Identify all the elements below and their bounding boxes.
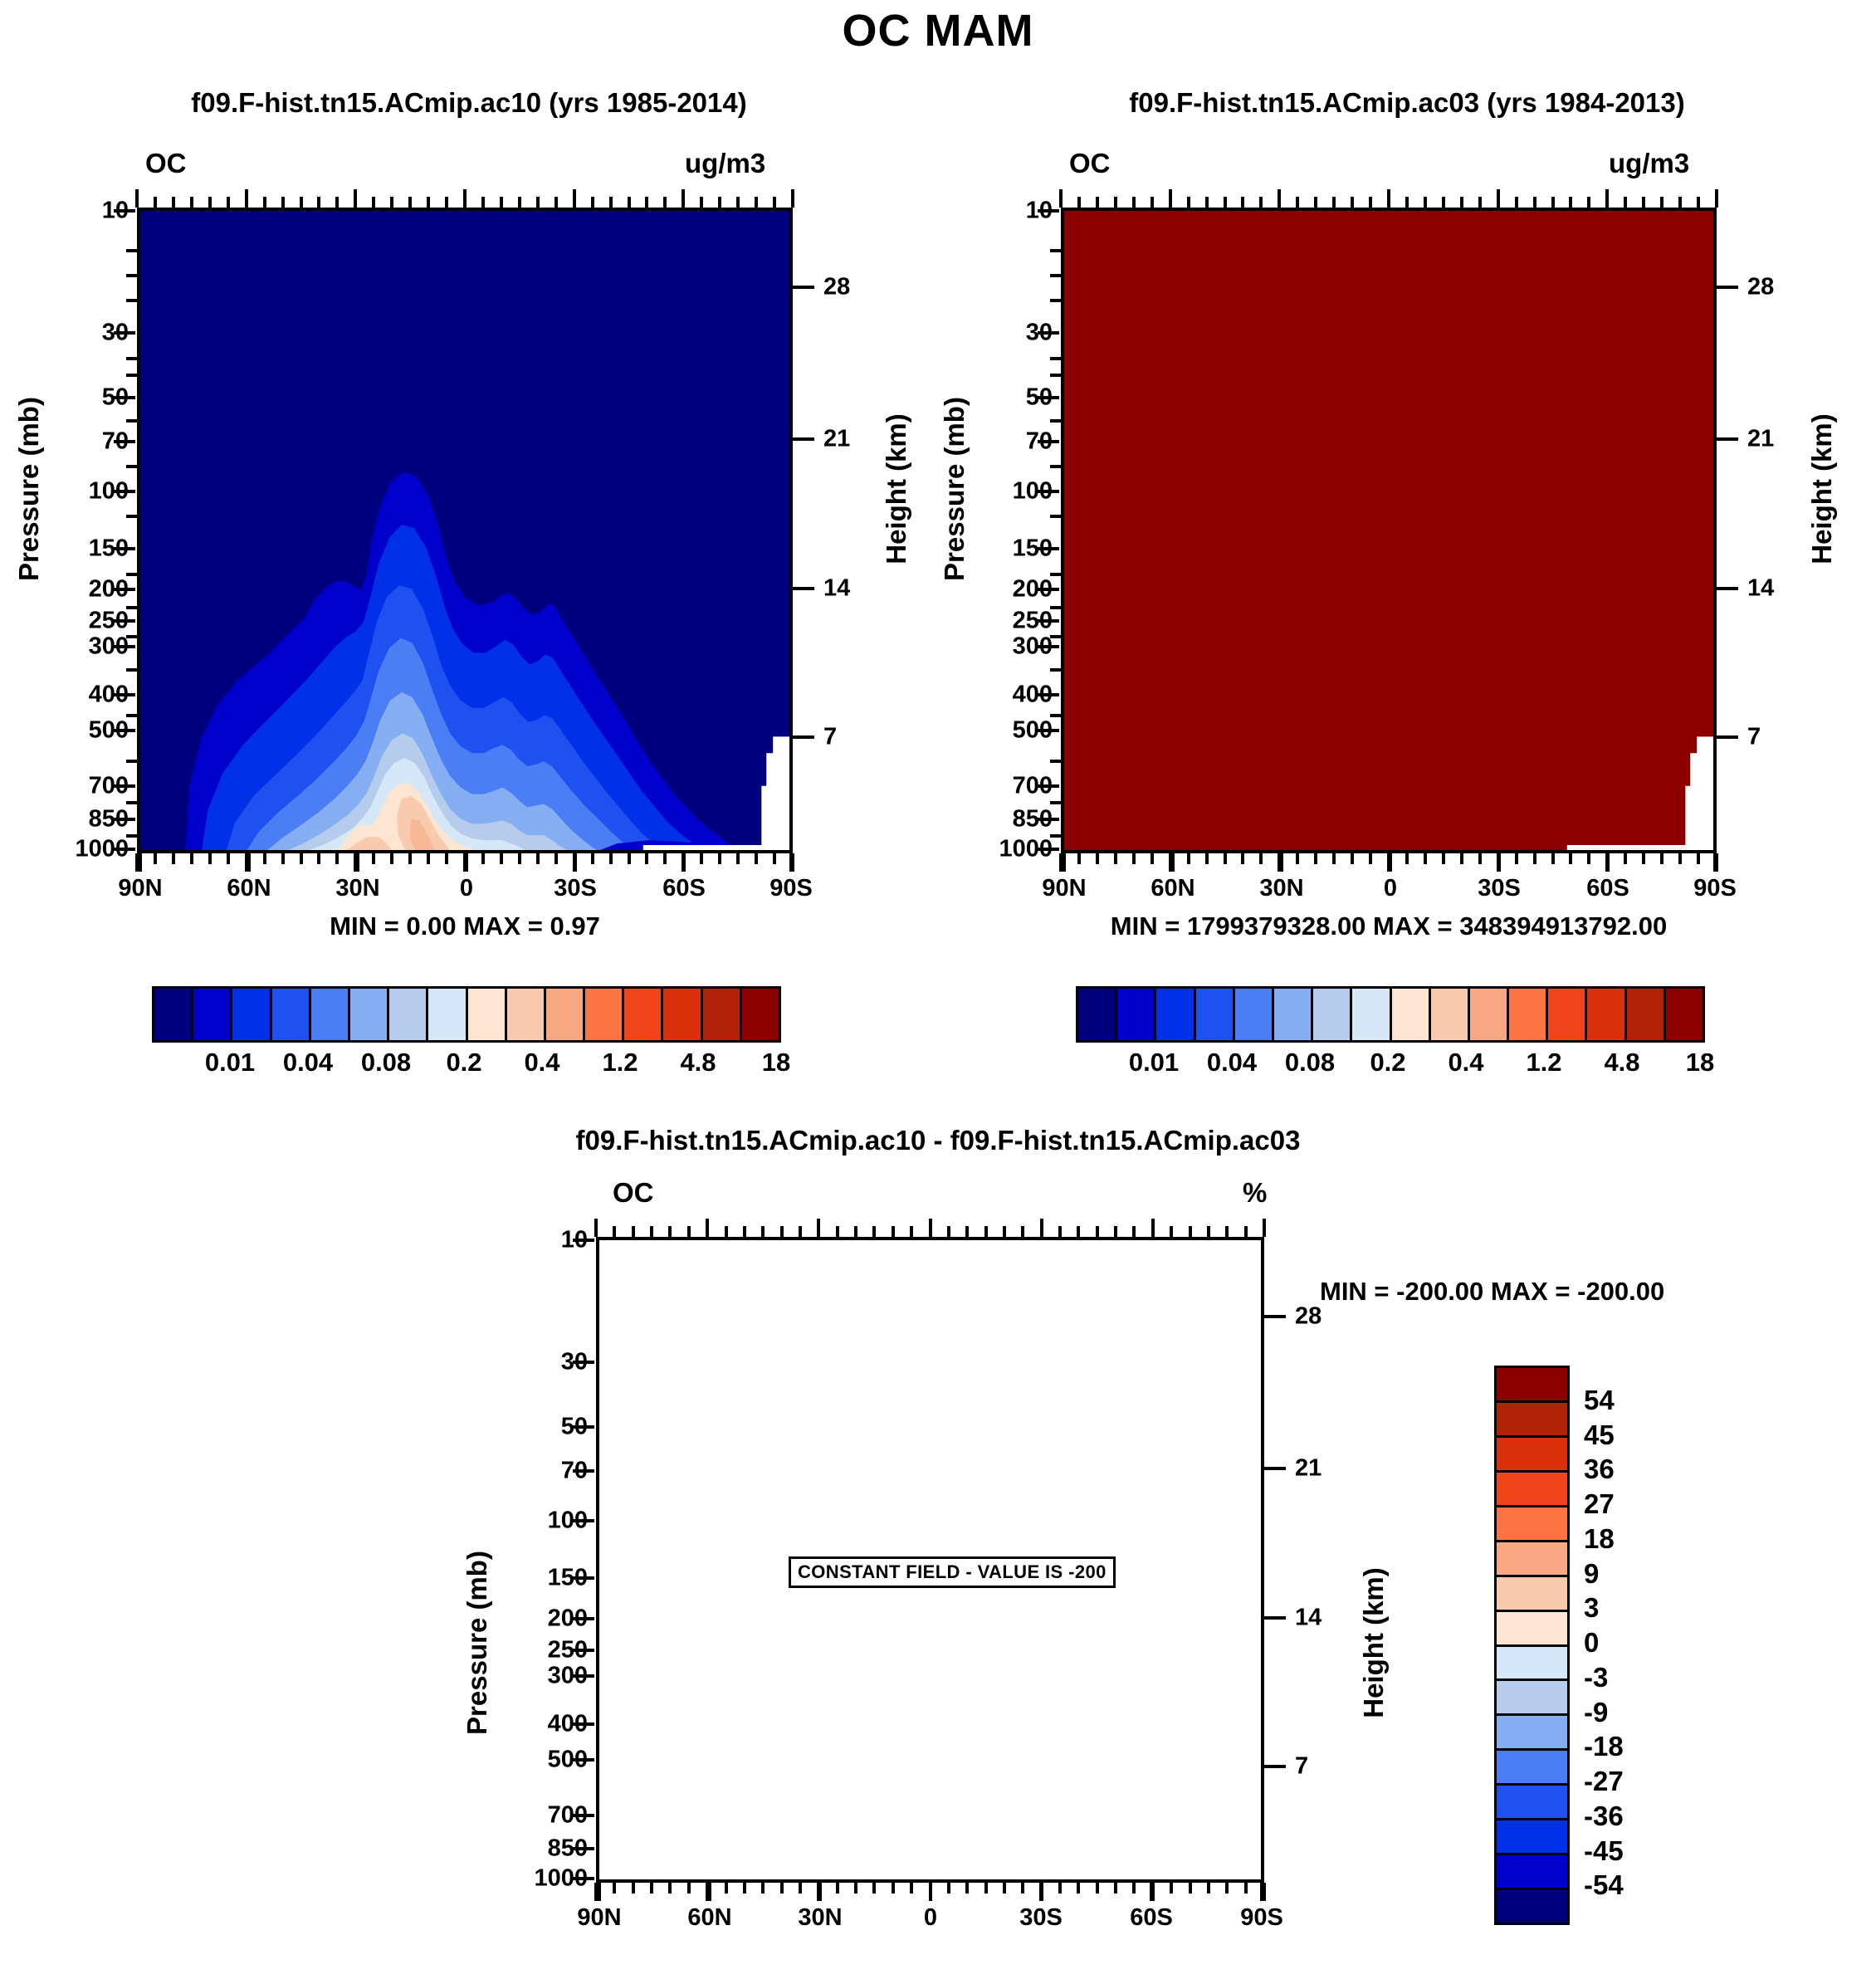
xtick-minor-mark: [1678, 853, 1682, 864]
xtick-minor-mark: [984, 1226, 988, 1237]
xtick-minor-mark: [463, 853, 467, 872]
diff-colorbar-tick-label: 45: [1584, 1420, 1615, 1451]
diff-colorbar-tick-label: -18: [1584, 1731, 1624, 1762]
xtick-minor-mark: [408, 197, 412, 208]
xtick-minor-mark: [263, 197, 266, 208]
xtick-minor-mark: [799, 1226, 802, 1237]
ytick-minor-mark: [1050, 465, 1061, 468]
xtick-30S: 30S: [1478, 875, 1521, 902]
colorbar-swatch-14: [703, 989, 742, 1040]
colorbar-swatch-13: [1587, 989, 1626, 1040]
ytick-mark: [573, 1674, 594, 1678]
xtick-minor-mark: [1351, 853, 1354, 864]
ytick-mark: [114, 547, 135, 550]
xtick-minor-mark: [1077, 1883, 1080, 1893]
colorbar-swatch-8: [468, 989, 507, 1040]
xtick-minor-mark: [445, 853, 448, 864]
ytick-700: 700: [459, 1802, 588, 1830]
xtick-minor-mark: [718, 853, 721, 864]
colorbar-tick-label: 0.08: [1285, 1048, 1335, 1077]
ytick-mark: [573, 1576, 594, 1580]
xtick-minor-mark: [872, 1883, 876, 1893]
xtick-minor-mark: [135, 189, 139, 208]
xtick-30N: 30N: [1259, 875, 1303, 902]
y2tick-mark: [793, 437, 814, 441]
xtick-minor-mark: [755, 197, 758, 208]
diff-colorbar-swatch-1: [1497, 1403, 1567, 1438]
diff-colorbar-swatch-6: [1497, 1577, 1567, 1612]
xtick-minor-mark: [1189, 1226, 1192, 1237]
panel-right-unit-label: ug/m3: [1609, 148, 1689, 179]
colorbar-swatch-3: [272, 989, 311, 1040]
xtick-minor-mark: [1424, 853, 1427, 864]
xtick-minor-mark: [594, 1883, 598, 1901]
y2tick-14: 14: [1295, 1605, 1345, 1632]
xtick-minor-mark: [1263, 1219, 1266, 1237]
xtick-minor-mark: [1369, 197, 1372, 208]
xtick-minor-mark: [1058, 1883, 1062, 1893]
xtick-minor-mark: [632, 1883, 635, 1893]
ytick-minor-mark: [126, 668, 137, 672]
ytick-100: 100: [0, 478, 129, 506]
colorbar-tick-label: 18: [1686, 1048, 1714, 1077]
ytick-minor-mark: [1050, 635, 1061, 638]
xtick-minor-mark: [591, 197, 594, 208]
xtick-minor-mark: [172, 197, 175, 208]
xtick-minor-mark: [1040, 1219, 1043, 1237]
xtick-minor-mark: [554, 853, 558, 864]
xtick-minor-mark: [650, 1226, 653, 1237]
ytick-minor-mark: [126, 714, 137, 717]
xtick-minor-mark: [947, 1226, 950, 1237]
y2tick-mark: [1264, 1616, 1286, 1620]
xtick-minor-mark: [1605, 189, 1609, 208]
xtick-minor-mark: [613, 1226, 616, 1237]
xtick-minor-mark: [1021, 1883, 1024, 1893]
panel-right-minmax: MIN = 1799379328.00 MAX = 348394913792.0…: [1061, 911, 1717, 941]
colorbar-tick-label: 0.01: [205, 1048, 255, 1077]
xtick-minor-mark: [1314, 197, 1317, 208]
y2tick-mark: [793, 735, 814, 739]
xtick-minor-mark: [1642, 197, 1645, 208]
xtick-minor-mark: [317, 197, 320, 208]
xtick-minor-mark: [427, 853, 430, 864]
xtick-minor-mark: [929, 1219, 932, 1237]
panel-diff-title: f09.F-hist.tn15.ACmip.ac10 - f09.F-hist.…: [357, 1125, 1519, 1156]
xtick-minor-mark: [1132, 1883, 1136, 1893]
colorbar-swatch-11: [585, 989, 624, 1040]
panel-left-y2-axis-title: Height (km): [881, 381, 912, 597]
xtick-minor-mark: [854, 1883, 857, 1893]
ytick-mark: [1038, 331, 1059, 335]
xtick-minor-mark: [481, 197, 485, 208]
xtick-minor-mark: [1132, 1226, 1136, 1237]
ytick-minor-mark: [126, 274, 137, 277]
ytick-minor-mark: [1050, 801, 1061, 804]
colorbar-tick-label: 0.2: [446, 1048, 481, 1077]
ytick-minor-mark: [1050, 834, 1061, 838]
diff-colorbar-swatch-12: [1497, 1786, 1567, 1820]
xtick-minor-mark: [300, 197, 303, 208]
xtick-minor-mark: [1021, 1226, 1024, 1237]
colorbar-swatch-1: [193, 989, 232, 1040]
xtick-minor-mark: [736, 197, 740, 208]
xtick-minor-mark: [1296, 197, 1299, 208]
xtick-minor-mark: [929, 1883, 932, 1901]
ytick-mark: [1038, 729, 1059, 732]
y2tick-mark: [1264, 1765, 1286, 1768]
ytick-mark: [1038, 645, 1059, 648]
xtick-90N: 90N: [577, 1904, 621, 1932]
colorbar-swatch-10: [1470, 989, 1509, 1040]
ytick-400: 400: [0, 682, 129, 709]
colorbar-swatch-5: [1274, 989, 1313, 1040]
xtick-minor-mark: [1478, 197, 1482, 208]
ytick-500: 500: [924, 717, 1053, 745]
xtick-minor-mark: [663, 853, 667, 864]
ytick-100: 100: [924, 478, 1053, 506]
xtick-minor-mark: [573, 853, 576, 872]
ytick-150: 150: [0, 535, 129, 563]
panel-diff-colorbar: [1494, 1366, 1570, 1925]
diff-colorbar-swatch-7: [1497, 1612, 1567, 1647]
xtick-minor-mark: [1369, 853, 1372, 864]
y2tick-mark: [1717, 735, 1738, 739]
colorbar-swatch-5: [350, 989, 389, 1040]
colorbar-swatch-14: [1627, 989, 1666, 1040]
ytick-10: 10: [924, 198, 1053, 225]
xtick-60S: 60S: [1586, 875, 1629, 902]
xtick-minor-mark: [854, 1226, 857, 1237]
ytick-50: 50: [0, 384, 129, 412]
xtick-minor-mark: [554, 197, 558, 208]
xtick-minor-mark: [135, 853, 139, 872]
ytick-minor-mark: [1050, 374, 1061, 377]
ytick-mark: [573, 1519, 594, 1522]
xtick-minor-mark: [892, 1226, 895, 1237]
xtick-minor-mark: [791, 189, 794, 208]
diff-colorbar-swatch-14: [1497, 1855, 1567, 1890]
y2tick-28: 28: [1747, 274, 1797, 301]
colorbar-tick-label: 1.2: [1526, 1048, 1561, 1077]
xtick-minor-mark: [1515, 853, 1518, 864]
colorbar-swatch-0: [1078, 989, 1117, 1040]
xtick-minor-mark: [1114, 853, 1117, 864]
ytick-minor-mark: [126, 573, 137, 576]
xtick-minor-mark: [1569, 853, 1572, 864]
xtick-60N: 60N: [227, 875, 271, 902]
diff-colorbar-tick-label: -36: [1584, 1801, 1624, 1832]
xtick-minor-mark: [208, 197, 212, 208]
xtick-30S: 30S: [554, 875, 597, 902]
xtick-minor-mark: [1059, 853, 1063, 872]
diff-colorbar-swatch-13: [1497, 1820, 1567, 1855]
xtick-minor-mark: [281, 197, 285, 208]
y2tick-7: 7: [1295, 1753, 1345, 1781]
xtick-minor-mark: [947, 1883, 950, 1893]
xtick-minor-mark: [354, 853, 357, 872]
xtick-minor-mark: [245, 189, 248, 208]
ytick-mark: [573, 1239, 594, 1242]
ytick-mark: [1038, 490, 1059, 493]
ytick-minor-mark: [1050, 573, 1061, 576]
xtick-minor-mark: [190, 853, 193, 864]
xtick-minor-mark: [817, 1219, 820, 1237]
xtick-minor-mark: [743, 1226, 746, 1237]
ytick-mark: [114, 645, 135, 648]
xtick-minor-mark: [1241, 197, 1244, 208]
xtick-minor-mark: [390, 853, 393, 864]
xtick-minor-mark: [609, 197, 613, 208]
xtick-minor-mark: [573, 189, 576, 208]
ytick-mark: [573, 1469, 594, 1473]
xtick-minor-mark: [1132, 197, 1136, 208]
xtick-minor-mark: [536, 197, 540, 208]
xtick-minor-mark: [1660, 197, 1663, 208]
diff-colorbar-tick-label: 27: [1584, 1488, 1615, 1520]
colorbar-swatch-2: [232, 989, 271, 1040]
xtick-minor-mark: [536, 853, 540, 864]
xtick-minor-mark: [1478, 853, 1482, 864]
xtick-30S: 30S: [1019, 1904, 1063, 1932]
xtick-mark: [598, 1883, 601, 1901]
xtick-minor-mark: [1332, 197, 1336, 208]
panel-right-y2-axis-title: Height (km): [1806, 381, 1838, 597]
ytick-200: 200: [924, 576, 1053, 603]
xtick-minor-mark: [1151, 197, 1154, 208]
xtick-minor-mark: [613, 1883, 616, 1893]
xtick-minor-mark: [263, 853, 266, 864]
xtick-0: 0: [924, 1904, 937, 1932]
colorbar-swatch-1: [1117, 989, 1156, 1040]
diff-colorbar-swatch-11: [1497, 1751, 1567, 1786]
xtick-minor-mark: [354, 189, 357, 208]
xtick-minor-mark: [1587, 197, 1590, 208]
xtick-minor-mark: [892, 1883, 895, 1893]
y2tick-14: 14: [823, 575, 873, 603]
diff-colorbar-tick-label: -9: [1584, 1697, 1608, 1728]
xtick-minor-mark: [773, 197, 776, 208]
ytick-700: 700: [924, 773, 1053, 800]
xtick-minor-mark: [300, 853, 303, 864]
xtick-minor-mark: [1405, 197, 1409, 208]
ytick-50: 50: [924, 384, 1053, 412]
xtick-minor-mark: [1187, 853, 1190, 864]
xtick-minor-mark: [1207, 1883, 1210, 1893]
diff-colorbar-swatch-5: [1497, 1542, 1567, 1577]
ytick-mark: [114, 619, 135, 623]
ytick-mark: [573, 1814, 594, 1817]
xtick-mark: [1063, 853, 1066, 872]
ytick-400: 400: [924, 682, 1053, 709]
panel-right-variable-label: OC: [1069, 148, 1111, 179]
xtick-minor-mark: [1387, 189, 1390, 208]
xtick-30N: 30N: [798, 1904, 842, 1932]
xtick-minor-mark: [1697, 197, 1700, 208]
diff-colorbar-tick-label: 9: [1584, 1558, 1599, 1590]
y2tick-mark: [1717, 587, 1738, 590]
xtick-minor-mark: [1715, 853, 1718, 872]
ytick-minor-mark: [126, 801, 137, 804]
ytick-300: 300: [0, 633, 129, 661]
xtick-minor-mark: [172, 853, 175, 864]
ytick-minor-mark: [126, 374, 137, 377]
xtick-minor-mark: [1715, 189, 1718, 208]
colorbar-tick-label: 0.2: [1370, 1048, 1405, 1077]
ytick-minor-mark: [1050, 606, 1061, 609]
y2tick-21: 21: [1747, 426, 1797, 453]
panel-left-plot-area: [137, 208, 793, 853]
diff-colorbar-swatch-4: [1497, 1507, 1567, 1542]
colorbar-swatch-7: [1352, 989, 1391, 1040]
panel-left-contour-field: [140, 211, 789, 850]
ytick-70: 70: [924, 428, 1053, 456]
xtick-minor-mark: [1170, 1883, 1173, 1893]
xtick-minor-mark: [700, 853, 703, 864]
xtick-minor-mark: [791, 853, 794, 872]
colorbar-swatch-9: [507, 989, 546, 1040]
colorbar-swatch-2: [1156, 989, 1195, 1040]
xtick-0: 0: [460, 875, 473, 902]
xtick-minor-mark: [799, 1883, 802, 1893]
xtick-minor-mark: [227, 853, 230, 864]
xtick-minor-mark: [1660, 853, 1663, 864]
ytick-200: 200: [0, 576, 129, 603]
ytick-minor-mark: [126, 515, 137, 518]
y2tick-7: 7: [823, 724, 873, 751]
xtick-minor-mark: [668, 1883, 672, 1893]
xtick-minor-mark: [1405, 853, 1409, 864]
ytick-minor-mark: [126, 249, 137, 252]
xtick-minor-mark: [1605, 853, 1609, 872]
xtick-minor-mark: [817, 1883, 820, 1901]
ytick-250: 250: [0, 608, 129, 635]
y2tick-mark: [1717, 437, 1738, 441]
colorbar-swatch-6: [1313, 989, 1352, 1040]
ytick-minor-mark: [1050, 274, 1061, 277]
xtick-minor-mark: [154, 197, 157, 208]
panel-diff-minmax: MIN = -200.00 MAX = -200.00: [1320, 1277, 1785, 1307]
xtick-minor-mark: [1642, 853, 1645, 864]
xtick-minor-mark: [650, 1883, 653, 1893]
xtick-minor-mark: [1096, 1883, 1099, 1893]
xtick-minor-mark: [1040, 1883, 1043, 1901]
xtick-minor-mark: [1151, 1219, 1155, 1237]
xtick-minor-mark: [1169, 853, 1172, 872]
xtick-minor-mark: [1096, 853, 1099, 864]
y2tick-21: 21: [823, 426, 873, 453]
panel-left-title: f09.F-hist.tn15.ACmip.ac10 (yrs 1985-201…: [0, 87, 938, 119]
ytick-mark: [1038, 848, 1059, 851]
y2tick-28: 28: [1295, 1303, 1345, 1331]
xtick-60S: 60S: [1130, 1904, 1173, 1932]
ytick-70: 70: [459, 1458, 588, 1485]
xtick-minor-mark: [687, 1883, 691, 1893]
xtick-minor-mark: [1533, 197, 1536, 208]
ytick-mark: [114, 331, 135, 335]
colorbar-swatch-10: [546, 989, 585, 1040]
ytick-mark: [573, 1877, 594, 1880]
xtick-60N: 60N: [1151, 875, 1194, 902]
ytick-minor-mark: [1050, 299, 1061, 302]
colorbar-tick-label: 0.01: [1129, 1048, 1179, 1077]
panel-left-colorbar: [152, 986, 781, 1043]
ytick-250: 250: [924, 608, 1053, 635]
panel-right-plot-area: [1061, 208, 1717, 853]
ytick-minor-mark: [126, 606, 137, 609]
xtick-minor-mark: [761, 1883, 765, 1893]
diff-colorbar-swatch-8: [1497, 1647, 1567, 1682]
panel-diff-variable-label: OC: [613, 1177, 654, 1209]
xtick-minor-mark: [518, 853, 521, 864]
xtick-minor-mark: [628, 197, 631, 208]
xtick-minor-mark: [1587, 853, 1590, 864]
diff-colorbar-tick-label: -27: [1584, 1766, 1624, 1797]
xtick-minor-mark: [463, 189, 467, 208]
xtick-minor-mark: [1224, 853, 1227, 864]
xtick-minor-mark: [773, 853, 776, 864]
xtick-minor-mark: [645, 197, 648, 208]
diff-colorbar-tick-label: -45: [1584, 1835, 1624, 1867]
xtick-minor-mark: [1387, 853, 1390, 872]
ytick-mark: [114, 729, 135, 732]
ytick-minor-mark: [1050, 419, 1061, 423]
ytick-minor-mark: [1050, 668, 1061, 672]
diff-colorbar-tick-label: 18: [1584, 1523, 1615, 1555]
y2tick-mark: [1717, 286, 1738, 289]
xtick-minor-mark: [1224, 197, 1227, 208]
xtick-minor-mark: [1187, 197, 1190, 208]
ytick-mark: [1038, 547, 1059, 550]
ytick-mark: [114, 396, 135, 399]
xtick-minor-mark: [372, 197, 375, 208]
ytick-minor-mark: [126, 357, 137, 360]
xtick-minor-mark: [445, 197, 448, 208]
colorbar-swatch-6: [389, 989, 428, 1040]
diff-colorbar-tick-label: 3: [1584, 1592, 1599, 1624]
xtick-minor-mark: [1624, 197, 1627, 208]
xtick-minor-mark: [1244, 1226, 1248, 1237]
xtick-minor-mark: [663, 197, 667, 208]
diff-colorbar-tick-label: -54: [1584, 1869, 1624, 1901]
xtick-minor-mark: [1132, 853, 1136, 864]
xtick-minor-mark: [335, 853, 339, 864]
colorbar-swatch-12: [1548, 989, 1587, 1040]
colorbar-swatch-9: [1431, 989, 1470, 1040]
xtick-minor-mark: [609, 853, 613, 864]
xtick-minor-mark: [1259, 197, 1263, 208]
ytick-100: 100: [459, 1507, 588, 1535]
ytick-minor-mark: [126, 465, 137, 468]
ytick-150: 150: [924, 535, 1053, 563]
colorbar-tick-label: 0.4: [1448, 1048, 1483, 1077]
y2tick-mark: [1264, 1315, 1286, 1318]
xtick-minor-mark: [1314, 853, 1317, 864]
colorbar-swatch-3: [1196, 989, 1235, 1040]
ytick-mark: [1038, 440, 1059, 443]
xtick-minor-mark: [1170, 1226, 1173, 1237]
xtick-minor-mark: [1278, 189, 1281, 208]
ytick-mark: [1038, 619, 1059, 623]
ytick-mark: [114, 848, 135, 851]
ytick-mark: [114, 784, 135, 788]
ytick-mark: [1038, 693, 1059, 696]
ytick-50: 50: [459, 1414, 588, 1441]
colorbar-tick-label: 0.04: [1207, 1048, 1257, 1077]
xtick-minor-mark: [965, 1226, 969, 1237]
xtick-minor-mark: [1003, 1883, 1006, 1893]
diff-colorbar-swatch-15: [1497, 1890, 1567, 1923]
